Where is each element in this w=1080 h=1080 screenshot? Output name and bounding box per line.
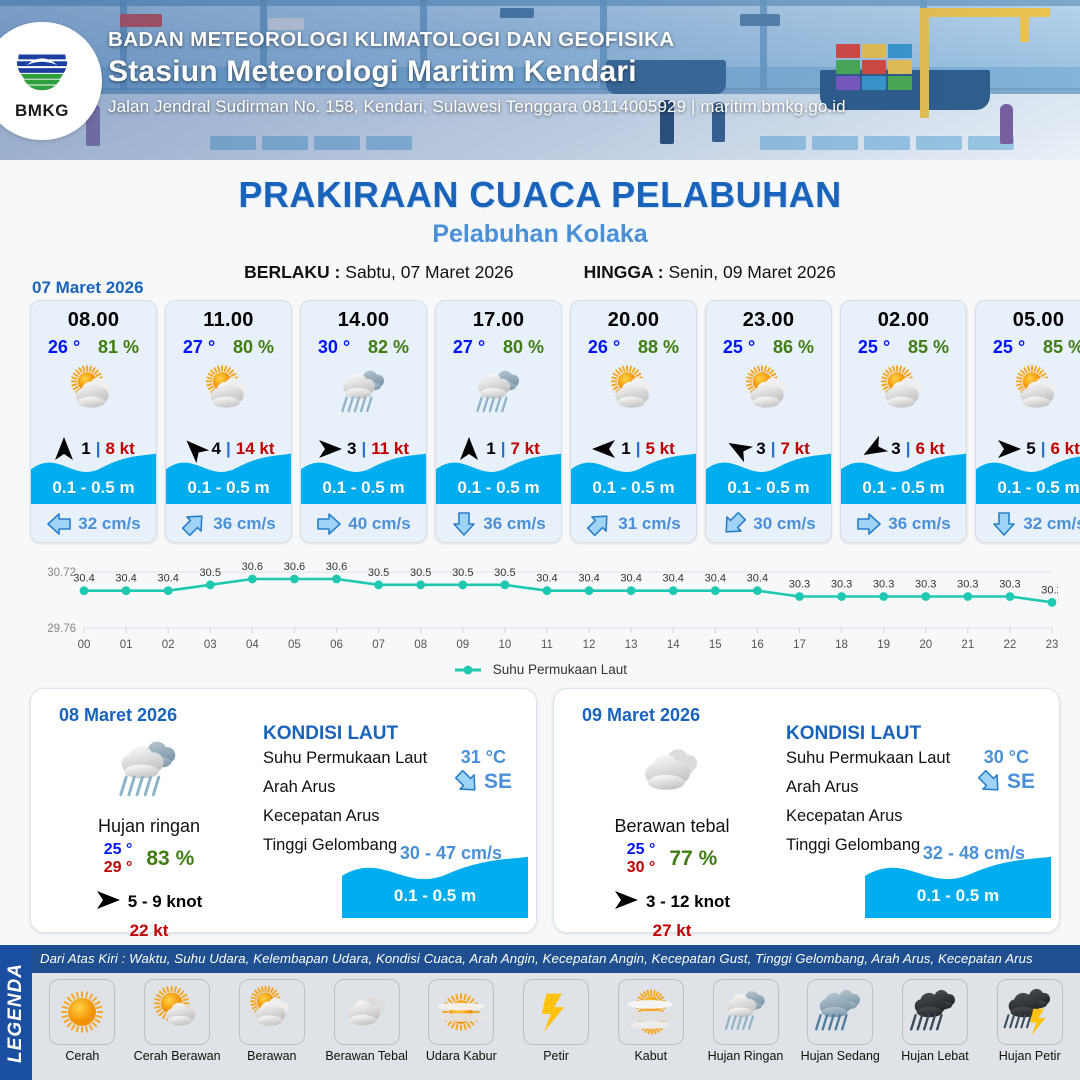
- legend-item-label: Berawan: [247, 1049, 296, 1063]
- validity-row: BERLAKU : Sabtu, 07 Maret 2026 HINGGA : …: [0, 262, 1080, 283]
- weather-icon-hujan-ringan: [470, 364, 528, 422]
- svg-text:30.4: 30.4: [620, 573, 641, 585]
- current-direction-label: Arah Arus: [263, 778, 335, 796]
- day-wind-row: 3 - 12 knot: [572, 887, 772, 918]
- weather-icon-berawan: [875, 364, 933, 422]
- header-banner: BMKG BADAN METEOROLOGI KLIMATOLOGI DAN G…: [0, 0, 1080, 160]
- svg-text:30.5: 30.5: [494, 567, 515, 579]
- svg-text:30.4: 30.4: [663, 573, 684, 585]
- svg-text:30.4: 30.4: [157, 573, 178, 585]
- weather-icon-hujan-sedang: [813, 985, 867, 1039]
- card-temp-humidity-row: 26 ° 81 %: [31, 332, 156, 358]
- daily-forecast-panel: 09 Maret 2026 Berawan tebal: [553, 688, 1060, 933]
- page-title: PRAKIRAAN CUACA PELABUHAN: [0, 174, 1080, 216]
- current-direction-row: Arah Arus SE: [263, 778, 522, 807]
- legend-item-label: Berawan Tebal: [325, 1049, 407, 1063]
- card-humidity: 85 %: [1043, 337, 1080, 358]
- hourly-forecast-card: 05.00 25 ° 85 %: [975, 300, 1080, 543]
- svg-text:13: 13: [625, 639, 638, 651]
- svg-text:09: 09: [456, 639, 469, 651]
- card-weather-icon: [301, 362, 426, 424]
- svg-text:07: 07: [372, 639, 385, 651]
- card-current-speed: 30 cm/s: [753, 514, 815, 534]
- card-temperature: 25 °: [993, 337, 1025, 358]
- day-condition: Berawan tebal: [572, 816, 772, 837]
- weather-icon-berawan: [200, 364, 258, 422]
- legend-item-label: Udara Kabur: [426, 1049, 497, 1063]
- svg-text:30.5: 30.5: [452, 567, 473, 579]
- card-wave-height: 0.1 - 0.5 m: [976, 478, 1080, 498]
- legend-item-icon-box: [902, 979, 968, 1045]
- svg-text:15: 15: [709, 639, 722, 651]
- legend-item-icon-box: [618, 979, 684, 1045]
- daily-forecast-row: 08 Maret 2026 Hujan ringan: [30, 688, 1060, 933]
- valid-from: BERLAKU : Sabtu, 07 Maret 2026: [244, 262, 513, 283]
- card-temp-humidity-row: 25 ° 85 %: [841, 332, 966, 358]
- hourly-forecast-card: 14.00 30 ° 82 %: [300, 300, 427, 543]
- card-time: 11.00: [166, 301, 291, 332]
- legend-item-icon-box: [144, 979, 210, 1045]
- legend-bar: LEGENDA Dari Atas Kiri : Waktu, Suhu Uda…: [0, 945, 1080, 1080]
- card-time: 02.00: [841, 301, 966, 332]
- legend-item-icon-box: [997, 979, 1063, 1045]
- wind-direction-arrow: [95, 888, 121, 912]
- legend-item: Hujan Sedang: [794, 979, 887, 1063]
- svg-text:30.3: 30.3: [957, 579, 978, 591]
- current-direction-arrow: [991, 512, 1017, 536]
- day-temp-humidity: 25 ° 29 ° 83 %: [49, 841, 249, 878]
- svg-text:03: 03: [204, 639, 217, 651]
- day-condition: Hujan ringan: [49, 816, 249, 837]
- card-temp-humidity-row: 25 ° 86 %: [706, 332, 831, 358]
- card-current-speed: 31 cm/s: [618, 514, 680, 534]
- current-direction-arrow: [972, 764, 1007, 799]
- svg-text:30.5: 30.5: [368, 567, 389, 579]
- card-humidity: 82 %: [368, 337, 409, 358]
- hourly-date-label: 07 Maret 2026: [32, 278, 144, 298]
- svg-text:20: 20: [919, 639, 932, 651]
- svg-text:30.4: 30.4: [705, 573, 726, 585]
- card-current-row: 36 cm/s: [166, 512, 291, 536]
- valid-until-value: Senin, 09 Maret 2026: [669, 262, 836, 282]
- station-address: Jalan Jendral Sudirman No. 158, Kendari,…: [108, 97, 846, 117]
- card-current-speed: 36 cm/s: [888, 514, 950, 534]
- card-current-speed: 40 cm/s: [348, 514, 410, 534]
- hourly-forecast-card: 02.00 25 ° 85 %: [840, 300, 967, 543]
- legend-item-label: Hujan Ringan: [708, 1049, 784, 1063]
- svg-text:02: 02: [162, 639, 175, 651]
- card-temperature: 27 °: [453, 337, 485, 358]
- card-wave-height: 0.1 - 0.5 m: [571, 478, 696, 498]
- current-direction-arrow: [47, 511, 71, 537]
- card-current-row: 32 cm/s: [976, 512, 1080, 536]
- weather-icon-cerah: [55, 985, 109, 1039]
- current-direction-arrow: [451, 512, 477, 536]
- sst-label: Suhu Permukaan Laut: [263, 749, 427, 767]
- weather-icon-hujan-ringan: [719, 985, 773, 1039]
- day-humidity: 77 %: [669, 847, 717, 871]
- weather-icon-berawan: [605, 364, 663, 422]
- card-weather-icon: [571, 362, 696, 424]
- legend-item-label: Hujan Lebat: [901, 1049, 968, 1063]
- weather-icon-petir: [529, 985, 583, 1039]
- card-wave-height: 0.1 - 0.5 m: [31, 478, 156, 498]
- current-direction-arrow: [582, 506, 617, 541]
- card-humidity: 80 %: [233, 337, 274, 358]
- svg-text:17: 17: [793, 639, 806, 651]
- current-speed-label: Kecepatan Arus: [263, 807, 380, 825]
- page-subtitle: Pelabuhan Kolaka: [0, 220, 1080, 249]
- card-humidity: 80 %: [503, 337, 544, 358]
- day-wave-height: 0.1 - 0.5 m: [865, 886, 1051, 906]
- svg-text:06: 06: [330, 639, 343, 651]
- day-wind-speed: 3 - 12 knot: [646, 892, 730, 912]
- valid-from-label: BERLAKU :: [244, 262, 340, 282]
- legend-item-icon-box: [334, 979, 400, 1045]
- day-wind-gust: 22 kt: [49, 921, 249, 941]
- legend-item-label: Cerah Berawan: [134, 1049, 221, 1063]
- weather-icon-hujan-ringan: [111, 733, 187, 809]
- current-direction-arrow: [717, 506, 752, 541]
- legend-item-label: Petir: [543, 1049, 569, 1063]
- card-temp-humidity-row: 30 ° 82 %: [301, 332, 426, 358]
- card-humidity: 88 %: [638, 337, 679, 358]
- day-temp-min: 25 °: [104, 841, 133, 859]
- svg-text:01: 01: [120, 639, 133, 651]
- svg-text:30.5: 30.5: [200, 567, 221, 579]
- current-direction-text: SE: [484, 770, 512, 794]
- day-sea-conditions: KONDISI LAUT Suhu Permukaan Laut 31 °C A…: [263, 723, 522, 865]
- legend-item-label: Kabut: [634, 1049, 667, 1063]
- card-current-speed: 32 cm/s: [1023, 514, 1080, 534]
- svg-text:30.3: 30.3: [873, 579, 894, 591]
- card-time: 23.00: [706, 301, 831, 332]
- header-text-block: BADAN METEOROLOGI KLIMATOLOGI DAN GEOFIS…: [108, 28, 846, 117]
- legend-item-icon-box: [49, 979, 115, 1045]
- weather-icon-cerah-berawan: [150, 985, 204, 1039]
- card-temperature: 25 °: [723, 337, 755, 358]
- legend-item: Cerah Berawan: [131, 979, 224, 1063]
- legend-item: Hujan Petir: [983, 979, 1076, 1063]
- legend-tab: LEGENDA: [0, 945, 32, 1080]
- current-direction-text: SE: [1007, 770, 1035, 794]
- bmkg-logo-mark: [13, 41, 71, 99]
- current-direction-row: Arah Arus SE: [786, 778, 1045, 807]
- day-sea-conditions: KONDISI LAUT Suhu Permukaan Laut 30 °C A…: [786, 723, 1045, 865]
- card-time: 05.00: [976, 301, 1080, 332]
- svg-text:30.72: 30.72: [47, 567, 76, 579]
- card-temperature: 26 °: [48, 337, 80, 358]
- valid-from-value: Sabtu, 07 Maret 2026: [345, 262, 513, 282]
- day-temp-min: 25 °: [627, 841, 656, 859]
- valid-until-label: HINGGA :: [584, 262, 664, 282]
- card-weather-icon: [706, 362, 831, 424]
- daily-forecast-panel: 08 Maret 2026 Hujan ringan: [30, 688, 537, 933]
- legend-tab-label: LEGENDA: [5, 963, 27, 1063]
- current-direction-value: SE: [454, 770, 512, 794]
- card-wave-height: 0.1 - 0.5 m: [841, 478, 966, 498]
- card-current-row: 36 cm/s: [841, 512, 966, 536]
- svg-text:30.3: 30.3: [831, 579, 852, 591]
- svg-text:30.5: 30.5: [410, 567, 431, 579]
- svg-text:05: 05: [288, 639, 301, 651]
- day-temp-max: 29 °: [104, 859, 133, 877]
- legend-item: Berawan: [225, 979, 318, 1063]
- weather-icon-berawan: [245, 985, 299, 1039]
- legend-item-icon-box: [713, 979, 779, 1045]
- day-date: 09 Maret 2026: [582, 705, 700, 726]
- card-wave-height: 0.1 - 0.5 m: [166, 478, 291, 498]
- card-humidity: 85 %: [908, 337, 949, 358]
- station-name: Stasiun Meteorologi Maritim Kendari: [108, 55, 846, 89]
- svg-text:08: 08: [414, 639, 427, 651]
- card-humidity: 81 %: [98, 337, 139, 358]
- card-temperature: 25 °: [858, 337, 890, 358]
- legend-item: Cerah: [36, 979, 129, 1063]
- svg-text:18: 18: [835, 639, 848, 651]
- hourly-forecast-card: 17.00 27 ° 80 %: [435, 300, 562, 543]
- svg-text:30.4: 30.4: [73, 573, 94, 585]
- title-block: PRAKIRAAN CUACA PELABUHAN Pelabuhan Kola…: [0, 160, 1080, 283]
- card-wave-height: 0.1 - 0.5 m: [436, 478, 561, 498]
- valid-until: HINGGA : Senin, 09 Maret 2026: [584, 262, 836, 283]
- svg-text:11: 11: [541, 639, 553, 651]
- wave-height-graphic: [865, 850, 1051, 918]
- hourly-forecast-card: 20.00 26 ° 88 %: [570, 300, 697, 543]
- chart-legend: Suhu Permukaan Laut: [0, 662, 1080, 677]
- weather-icon-hujan-lebat: [908, 985, 962, 1039]
- card-temp-humidity-row: 26 ° 88 %: [571, 332, 696, 358]
- legend-icon-row: Cerah Cerah Berawan: [32, 973, 1080, 1080]
- current-speed-label: Kecepatan Arus: [786, 807, 903, 825]
- weather-icon-udara-kabur: [434, 985, 488, 1039]
- wave-height-graphic: [342, 850, 528, 918]
- legend-item: Hujan Lebat: [889, 979, 982, 1063]
- current-speed-row: Kecepatan Arus: [263, 807, 522, 836]
- weather-icon-hujan-ringan: [335, 364, 393, 422]
- current-direction-label: Arah Arus: [786, 778, 858, 796]
- card-current-speed: 36 cm/s: [483, 514, 545, 534]
- weather-icon-berawan: [740, 364, 798, 422]
- svg-text:19: 19: [877, 639, 890, 651]
- svg-text:22: 22: [1004, 639, 1017, 651]
- current-direction-arrow: [177, 506, 212, 541]
- card-weather-icon: [841, 362, 966, 424]
- svg-text:30.6: 30.6: [326, 561, 347, 573]
- svg-text:16: 16: [751, 639, 764, 651]
- svg-text:12: 12: [583, 639, 596, 651]
- day-wind-speed: 5 - 9 knot: [128, 892, 203, 912]
- legend-item-label: Hujan Sedang: [801, 1049, 880, 1063]
- legend-item: Udara Kabur: [415, 979, 508, 1063]
- legend-note: Dari Atas Kiri : Waktu, Suhu Udara, Kele…: [40, 951, 1074, 966]
- svg-text:30.6: 30.6: [242, 561, 263, 573]
- day-weather-icon: [572, 733, 772, 814]
- current-direction-arrow: [449, 764, 484, 799]
- card-time: 20.00: [571, 301, 696, 332]
- day-wind-gust: 27 kt: [572, 921, 772, 941]
- legend-item-icon-box: [807, 979, 873, 1045]
- hourly-forecast-card: 11.00 27 ° 80 %: [165, 300, 292, 543]
- card-weather-icon: [166, 362, 291, 424]
- legend-item-icon-box: [428, 979, 494, 1045]
- svg-text:00: 00: [78, 639, 91, 651]
- hourly-forecast-card: 08.00 26 ° 81 %: [30, 300, 157, 543]
- svg-text:10: 10: [498, 639, 511, 651]
- card-temperature: 27 °: [183, 337, 215, 358]
- card-temp-humidity-row: 27 ° 80 %: [436, 332, 561, 358]
- legend-item-icon-box: [239, 979, 305, 1045]
- weather-icon-kabut: [624, 985, 678, 1039]
- sst-label: Suhu Permukaan Laut: [786, 749, 950, 767]
- day-wave-graphic: [865, 850, 1051, 918]
- day-humidity: 83 %: [146, 847, 194, 871]
- card-weather-icon: [31, 362, 156, 424]
- svg-text:30.3: 30.3: [789, 579, 810, 591]
- card-current-row: 36 cm/s: [436, 512, 561, 536]
- legend-item: Petir: [510, 979, 603, 1063]
- weather-icon-berawan: [65, 364, 123, 422]
- svg-text:30.4: 30.4: [747, 573, 768, 585]
- svg-text:14: 14: [667, 639, 680, 651]
- card-weather-icon: [436, 362, 561, 424]
- day-date: 08 Maret 2026: [59, 705, 177, 726]
- day-wave-height: 0.1 - 0.5 m: [342, 886, 528, 906]
- day-wave-graphic: [342, 850, 528, 918]
- bmkg-logo-text: BMKG: [15, 101, 69, 121]
- card-time: 14.00: [301, 301, 426, 332]
- svg-text:30.6: 30.6: [284, 561, 305, 573]
- hourly-forecast-row: 08.00 26 ° 81 %: [30, 300, 1080, 543]
- weather-icon-berawan-tebal: [634, 733, 710, 809]
- legend-item: Kabut: [604, 979, 697, 1063]
- current-direction-value: SE: [977, 770, 1035, 794]
- svg-text:30.2: 30.2: [1041, 584, 1058, 596]
- current-direction-arrow: [317, 511, 341, 537]
- card-current-row: 31 cm/s: [571, 512, 696, 536]
- card-time: 08.00: [31, 301, 156, 332]
- day-wind-direction: [614, 887, 638, 918]
- day-wind-direction: [96, 887, 120, 918]
- weather-icon-berawan: [1010, 364, 1068, 422]
- svg-text:30.4: 30.4: [536, 573, 557, 585]
- svg-text:23: 23: [1046, 639, 1058, 651]
- svg-text:30.3: 30.3: [915, 579, 936, 591]
- svg-text:30.4: 30.4: [115, 573, 136, 585]
- day-wind-row: 5 - 9 knot: [49, 887, 249, 918]
- weather-icon-hujan-petir: [1003, 985, 1057, 1039]
- sea-conditions-title: KONDISI LAUT: [263, 723, 522, 745]
- svg-text:30.4: 30.4: [578, 573, 599, 585]
- card-wave-height: 0.1 - 0.5 m: [301, 478, 426, 498]
- sea-conditions-title: KONDISI LAUT: [786, 723, 1045, 745]
- svg-text:30.3: 30.3: [999, 579, 1020, 591]
- legend-item-icon-box: [523, 979, 589, 1045]
- card-temp-humidity-row: 27 ° 80 %: [166, 332, 291, 358]
- card-time: 17.00: [436, 301, 561, 332]
- day-temp-range: 25 ° 30 °: [627, 841, 656, 878]
- day-weather-icon: [49, 733, 249, 814]
- legend-item: Berawan Tebal: [320, 979, 413, 1063]
- svg-text:29.76: 29.76: [47, 623, 76, 635]
- wind-direction-arrow: [613, 888, 639, 912]
- day-temp-max: 30 °: [627, 859, 656, 877]
- card-current-row: 40 cm/s: [301, 512, 426, 536]
- card-current-speed: 32 cm/s: [78, 514, 140, 534]
- svg-text:21: 21: [961, 639, 974, 651]
- card-current-row: 32 cm/s: [31, 512, 156, 536]
- infographic-page: BMKG BADAN METEOROLOGI KLIMATOLOGI DAN G…: [0, 0, 1080, 1080]
- card-temperature: 26 °: [588, 337, 620, 358]
- day-summary: Hujan ringan 25 ° 29 ° 83 % 5 - 9 knot 2…: [49, 733, 249, 941]
- card-weather-icon: [976, 362, 1080, 424]
- card-wave-height: 0.1 - 0.5 m: [706, 478, 831, 498]
- legend-item: Hujan Ringan: [699, 979, 792, 1063]
- weather-icon-berawan-tebal: [340, 985, 394, 1039]
- chart-legend-label: Suhu Permukaan Laut: [493, 662, 627, 677]
- current-direction-arrow: [857, 511, 881, 537]
- card-temperature: 30 °: [318, 337, 350, 358]
- card-current-speed: 36 cm/s: [213, 514, 275, 534]
- current-speed-row: Kecepatan Arus: [786, 807, 1045, 836]
- card-temp-humidity-row: 25 ° 85 %: [976, 332, 1080, 358]
- legend-item-label: Hujan Petir: [999, 1049, 1061, 1063]
- card-current-row: 30 cm/s: [706, 512, 831, 536]
- svg-text:04: 04: [246, 639, 259, 651]
- legend-item-label: Cerah: [65, 1049, 99, 1063]
- chart-legend-marker: [453, 664, 483, 676]
- day-temp-humidity: 25 ° 30 ° 77 %: [572, 841, 772, 878]
- card-humidity: 86 %: [773, 337, 814, 358]
- day-summary: Berawan tebal 25 ° 30 ° 77 % 3 - 12 knot…: [572, 733, 772, 941]
- agency-name: BADAN METEOROLOGI KLIMATOLOGI DAN GEOFIS…: [108, 28, 846, 52]
- day-temp-range: 25 ° 29 °: [104, 841, 133, 878]
- hourly-forecast-card: 23.00 25 ° 86 %: [705, 300, 832, 543]
